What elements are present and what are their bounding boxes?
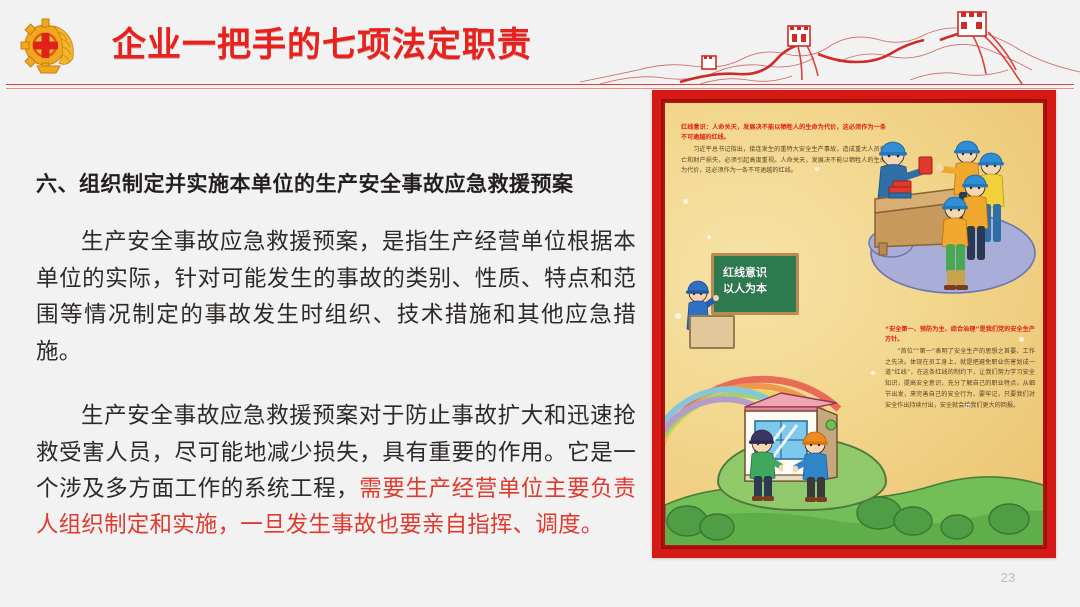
body-paragraph-2: 生产安全事故应急救援预案对于防止事故扩大和迅速抢救受害人员，尽可能地减少损失，具…: [36, 398, 636, 544]
worker-green-figure-icon: [743, 427, 783, 501]
poster-canvas: 红线意识：人命关天，发展决不能以牺牲人的生命为代价，这必须作为一条不可逾越的红线…: [665, 103, 1043, 545]
body-paragraph-1: 生产安全事故应急救援预案，是指生产经营单位根据本单位的实际，针对可能发生的事故的…: [36, 224, 636, 370]
poster-text-block-bottom: “安全第一、预防为主、综合治理”是我们党的安全生产方针。 “首位”“第一”表明了…: [885, 325, 1035, 412]
page-number: 23: [988, 570, 1028, 585]
slide-canvas: 企业一把手的七项法定职责: [0, 0, 1080, 607]
sparkle-dot: [683, 199, 688, 204]
workers-receiving-handbooks-scene-icon: [867, 125, 1037, 300]
poster-safety-policy-heading: “安全第一、预防为主、综合治理”是我们党的安全生产方针。: [885, 325, 1035, 345]
safety-poster-image: 红线意识：人命关天，发展决不能以牺牲人的生命为代价，这必须作为一条不可逾越的红线…: [652, 90, 1056, 558]
page-title: 企业一把手的七项法定职责: [112, 17, 532, 66]
poster-red-line-heading: 红线意识：人命关天，发展决不能以牺牲人的生命为代价，这必须作为一条不可逾越的红线…: [681, 123, 886, 143]
header-divider-secondary: [6, 88, 1074, 89]
great-wall-illustration-icon: [580, 0, 1080, 86]
header-divider: [6, 84, 1074, 85]
blackboard-text: 红线意识 以人为本: [723, 265, 767, 297]
blackboard-line-2: 以人为本: [723, 281, 767, 297]
content-text-column: 六、组织制定并实施本单位的生产安全事故应急救援预案 生产安全事故应急救援预案，是…: [36, 170, 636, 544]
blackboard: 红线意识 以人为本: [711, 253, 799, 315]
poster-text-block-top: 红线意识：人命关天，发展决不能以牺牲人的生命为代价，这必须作为一条不可逾越的红线…: [681, 123, 886, 177]
poster-red-line-body: 习近平总书记指出，接连发生的重特大安全生产事故，造成重大人员伤亡和财产损失，必须…: [681, 145, 886, 178]
slide-header: 企业一把手的七项法定职责: [0, 0, 1080, 88]
poster-inner-border: 红线意识：人命关天，发展决不能以牺牲人的生命为代价，这必须作为一条不可逾越的红线…: [661, 99, 1047, 549]
poster-safety-policy-body: “首位”“第一”表明了安全生产的思想之首要、工作之先决。体现在员工身上，就是把避…: [885, 347, 1035, 412]
sparkle-dot: [707, 235, 711, 239]
blackboard-line-1: 红线意识: [723, 265, 767, 281]
worker-blue-figure-icon: [793, 427, 835, 503]
sparkle-dot: [871, 371, 875, 375]
safety-production-emblem-icon: [18, 16, 80, 74]
section-heading: 六、组织制定并实施本单位的生产安全事故应急救援预案: [36, 170, 636, 198]
